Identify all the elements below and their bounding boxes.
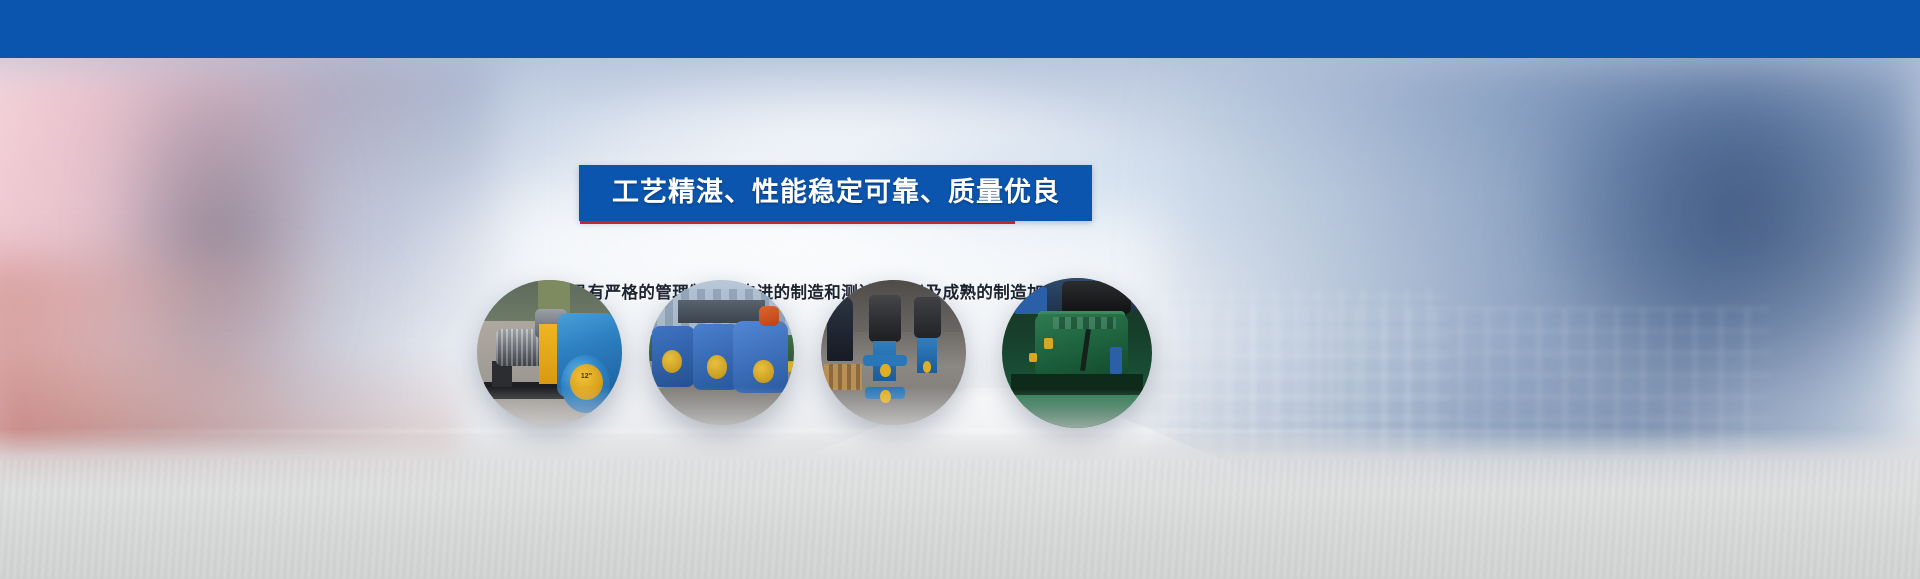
product-gallery: 12" bbox=[0, 0, 1920, 579]
site-header-bar bbox=[0, 0, 1920, 58]
product-photo-slurry-pumps[interactable] bbox=[649, 280, 794, 425]
product-photo-split-case-pump[interactable]: 12" bbox=[477, 280, 622, 425]
product-photo-diesel-engine-pump[interactable] bbox=[1002, 278, 1152, 428]
product-photo-vertical-inline-pumps[interactable] bbox=[821, 280, 966, 425]
hero-banner: 工艺精湛、性能稳定可靠、质量优良 公司具有严格的管理制度，先进的制造和测试装备以… bbox=[0, 0, 1920, 579]
